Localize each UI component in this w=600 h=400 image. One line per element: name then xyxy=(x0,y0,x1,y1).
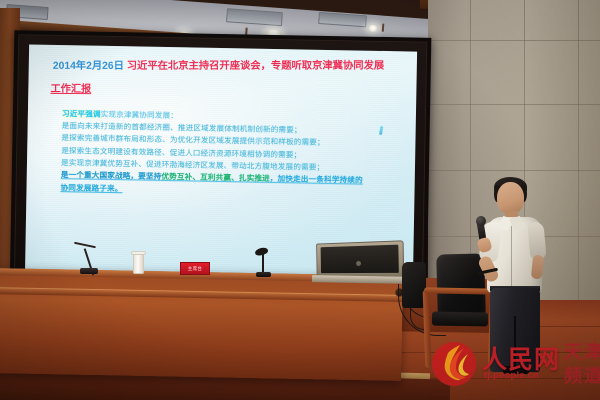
head xyxy=(497,182,524,214)
watermark-url: tj.people.cn xyxy=(484,370,539,381)
desk-nameplate: 主席台 xyxy=(180,262,210,275)
slide-bullet-highlight: 习近平强调 xyxy=(62,109,101,119)
ceiling-vent xyxy=(318,12,367,27)
laptop-logo xyxy=(356,261,361,266)
slide-title-date: 2014年2月26日 xyxy=(53,61,124,72)
people-cn-flame-logo-icon xyxy=(430,340,478,388)
conclusion-part-a: 是一个重大国家战略，要坚持 xyxy=(61,170,162,181)
slide-subtitle: 工作汇报 xyxy=(50,80,400,97)
podium-desk xyxy=(0,268,403,381)
slide-title-main: 习近平在北京主持召开座谈会，专题听取京津冀协同发展 xyxy=(127,61,384,72)
shirt-placket xyxy=(511,226,512,290)
podium-molding xyxy=(0,287,403,302)
watermark-channel-line1: 天津 xyxy=(564,338,600,364)
right-arm xyxy=(531,254,544,279)
tile-grout xyxy=(428,40,600,41)
photo-scene: 2014年2月26日 习近平在北京主持召开座谈会，专题听取京津冀协同发展 工作汇… xyxy=(0,0,600,400)
laptop-screen xyxy=(321,245,399,273)
slide-title: 2014年2月26日 习近平在北京主持召开座谈会，专题听取京津冀协同发展 xyxy=(53,61,401,74)
ceiling-vent xyxy=(226,8,283,26)
microphone-base xyxy=(80,268,98,274)
ceiling-spotlight xyxy=(368,25,378,33)
tile-grout xyxy=(578,0,579,324)
gooseneck-mic-base xyxy=(256,272,271,277)
desk-nameplate-label: 主席台 xyxy=(188,266,202,272)
slide-body: 习近平强调实现京津冀协同发展： 是面向未来打造新的首都经济圈、推进区域发展体制机… xyxy=(60,108,400,200)
watermark-channel-line2: 频道 xyxy=(564,362,600,388)
light-stem xyxy=(382,24,385,32)
laptop-lid xyxy=(316,240,404,278)
slide-bullet-text: 实现京津冀协同发展： xyxy=(101,110,179,120)
paper-cup xyxy=(133,254,144,274)
watermark: 人民网 tj.people.cn 天津 频道 xyxy=(424,336,600,398)
tile-grout xyxy=(428,170,600,171)
conclusion-part-b: 优势互补、互利共赢、扎实推进 xyxy=(161,172,270,183)
microphone-head-icon xyxy=(476,216,486,226)
conclusion-part-c: ，加快走出一条科学持续的 xyxy=(270,174,363,185)
tile-grout xyxy=(428,104,600,105)
